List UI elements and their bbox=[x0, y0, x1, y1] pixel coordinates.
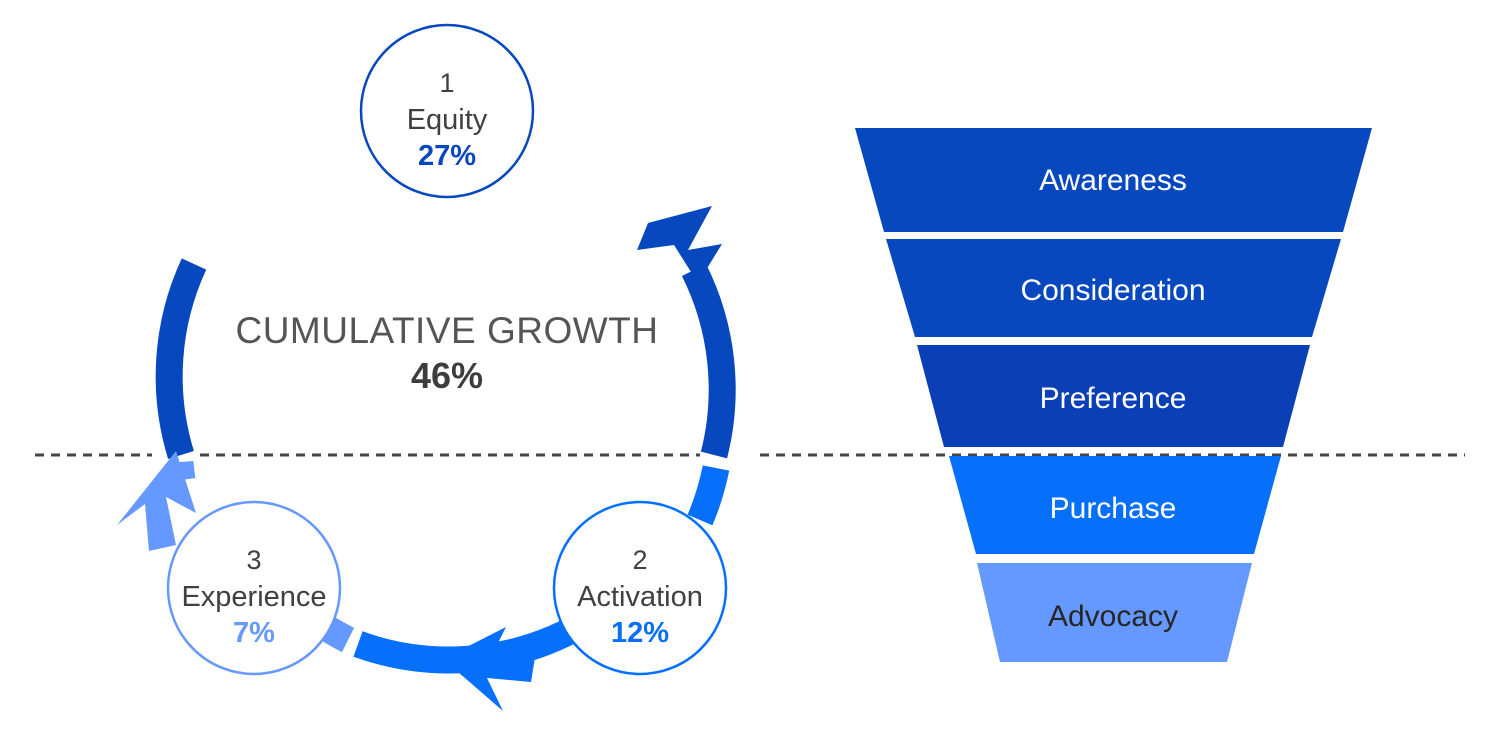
cycle-node-experience-value: 7% bbox=[233, 617, 275, 649]
ring-arc-equity-dark-left bbox=[169, 264, 194, 455]
cycle-center-label: CUMULATIVE GROWTH 46% bbox=[235, 310, 658, 396]
cycle-node-experience-index: 3 bbox=[246, 545, 261, 575]
funnel-stage-advocacy-label: Advocacy bbox=[1048, 600, 1178, 633]
ring-arc-activation-bright-upper bbox=[700, 468, 716, 520]
cycle-node-activation[interactable]: 2 Activation 12% bbox=[554, 502, 726, 674]
cycle-node-experience-label: Experience bbox=[181, 581, 326, 613]
funnel-stage-purchase-label: Purchase bbox=[1050, 492, 1177, 525]
diagram-svg: 1 Equity 27% 2 Activation 12% 3 Experien… bbox=[0, 0, 1500, 737]
cycle-node-activation-label: Activation bbox=[577, 581, 703, 613]
marketing-funnel: Awareness Consideration Preference Purch… bbox=[855, 128, 1372, 662]
funnel-stage-consideration[interactable]: Consideration bbox=[886, 239, 1341, 337]
ring-arc-equity-dark-right bbox=[694, 270, 722, 455]
funnel-stage-awareness[interactable]: Awareness bbox=[855, 128, 1372, 232]
funnel-stage-purchase[interactable]: Purchase bbox=[949, 456, 1281, 554]
funnel-stage-preference[interactable]: Preference bbox=[917, 345, 1310, 447]
cycle-center-value: 46% bbox=[411, 355, 483, 396]
funnel-stage-advocacy[interactable]: Advocacy bbox=[977, 563, 1252, 662]
cycle-node-activation-value: 12% bbox=[611, 617, 669, 649]
cycle-node-activation-index: 2 bbox=[632, 545, 647, 575]
cycle-node-equity-label: Equity bbox=[407, 104, 488, 136]
cycle-node-experience[interactable]: 3 Experience 7% bbox=[168, 502, 340, 674]
funnel-stage-awareness-label: Awareness bbox=[1039, 164, 1187, 197]
cycle-center-title: CUMULATIVE GROWTH bbox=[235, 310, 658, 351]
funnel-stage-preference-label: Preference bbox=[1040, 382, 1187, 415]
cycle-node-equity-value: 27% bbox=[418, 140, 476, 172]
diagram-canvas: 1 Equity 27% 2 Activation 12% 3 Experien… bbox=[0, 0, 1500, 737]
funnel-stage-consideration-label: Consideration bbox=[1020, 274, 1205, 307]
cycle-node-equity[interactable]: 1 Equity 27% bbox=[361, 25, 533, 197]
cycle-node-equity-index: 1 bbox=[439, 68, 454, 98]
